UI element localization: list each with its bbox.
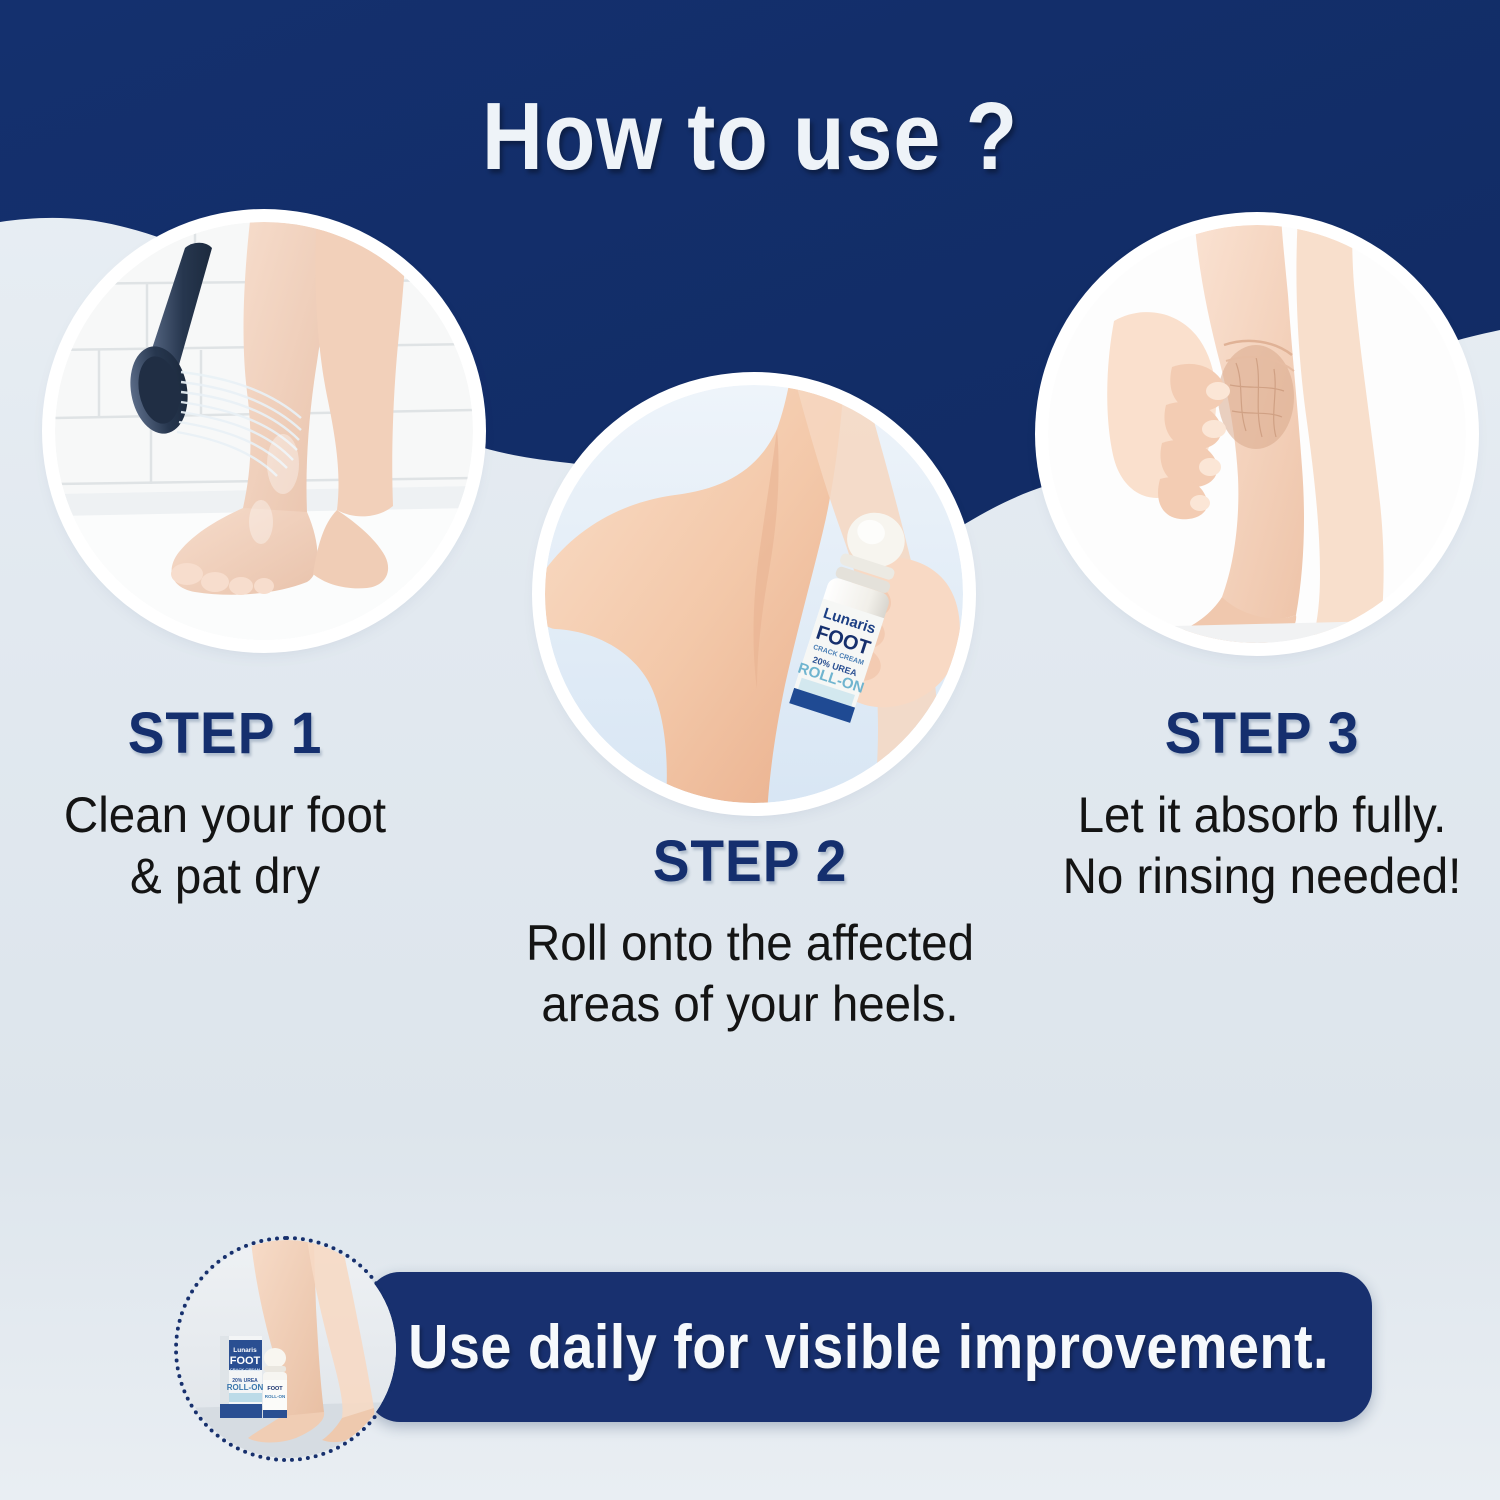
step-1-photo <box>55 222 473 640</box>
step-3-block: STEP 3 Let it absorb fully. No rinsing n… <box>1032 700 1492 907</box>
step-2-label: STEP 2 <box>475 828 1026 895</box>
page-title: How to use ? <box>90 82 1410 192</box>
daily-use-banner-text: Use daily for visible improvement. <box>409 1312 1330 1383</box>
svg-text:FOOT: FOOT <box>267 1386 283 1392</box>
svg-text:ROLL-ON: ROLL-ON <box>227 1383 264 1392</box>
step-1-label: STEP 1 <box>35 700 415 767</box>
step-2-line-1: Roll onto the affected <box>475 913 1026 974</box>
step-3-description: Let it absorb fully. No rinsing needed! <box>1044 785 1481 907</box>
svg-text:FOOT: FOOT <box>230 1355 261 1367</box>
step-2-description: Roll onto the affected areas of your hee… <box>475 913 1026 1035</box>
step-2-block: STEP 2 Roll onto the affected areas of y… <box>460 828 1040 1035</box>
step-1-block: STEP 1 Clean your foot & pat dry <box>25 700 425 907</box>
daily-use-banner: Use daily for visible improvement. <box>366 1272 1372 1422</box>
step-2-line-2: areas of your heels. <box>475 974 1026 1035</box>
svg-text:ROLL-ON: ROLL-ON <box>265 1394 286 1399</box>
product-photo: Lunaris FOOT CRACK CREAM 20% UREA ROLL-O… <box>178 1240 396 1458</box>
step-1-line-1: Clean your foot <box>35 785 415 846</box>
step-2-photo: Lunaris FOOT CRACK CREAM 20% UREA ROLL-O… <box>545 385 963 803</box>
step-1-line-2: & pat dry <box>35 846 415 907</box>
svg-text:Lunaris: Lunaris <box>233 1347 257 1354</box>
step-3-label: STEP 3 <box>1044 700 1481 767</box>
step-3-photo <box>1048 225 1466 643</box>
svg-text:CRACK CREAM: CRACK CREAM <box>230 1367 261 1372</box>
step-1-description: Clean your foot & pat dry <box>35 785 415 907</box>
step-3-line-1: Let it absorb fully. <box>1044 785 1481 846</box>
step-3-line-2: No rinsing needed! <box>1044 846 1481 907</box>
